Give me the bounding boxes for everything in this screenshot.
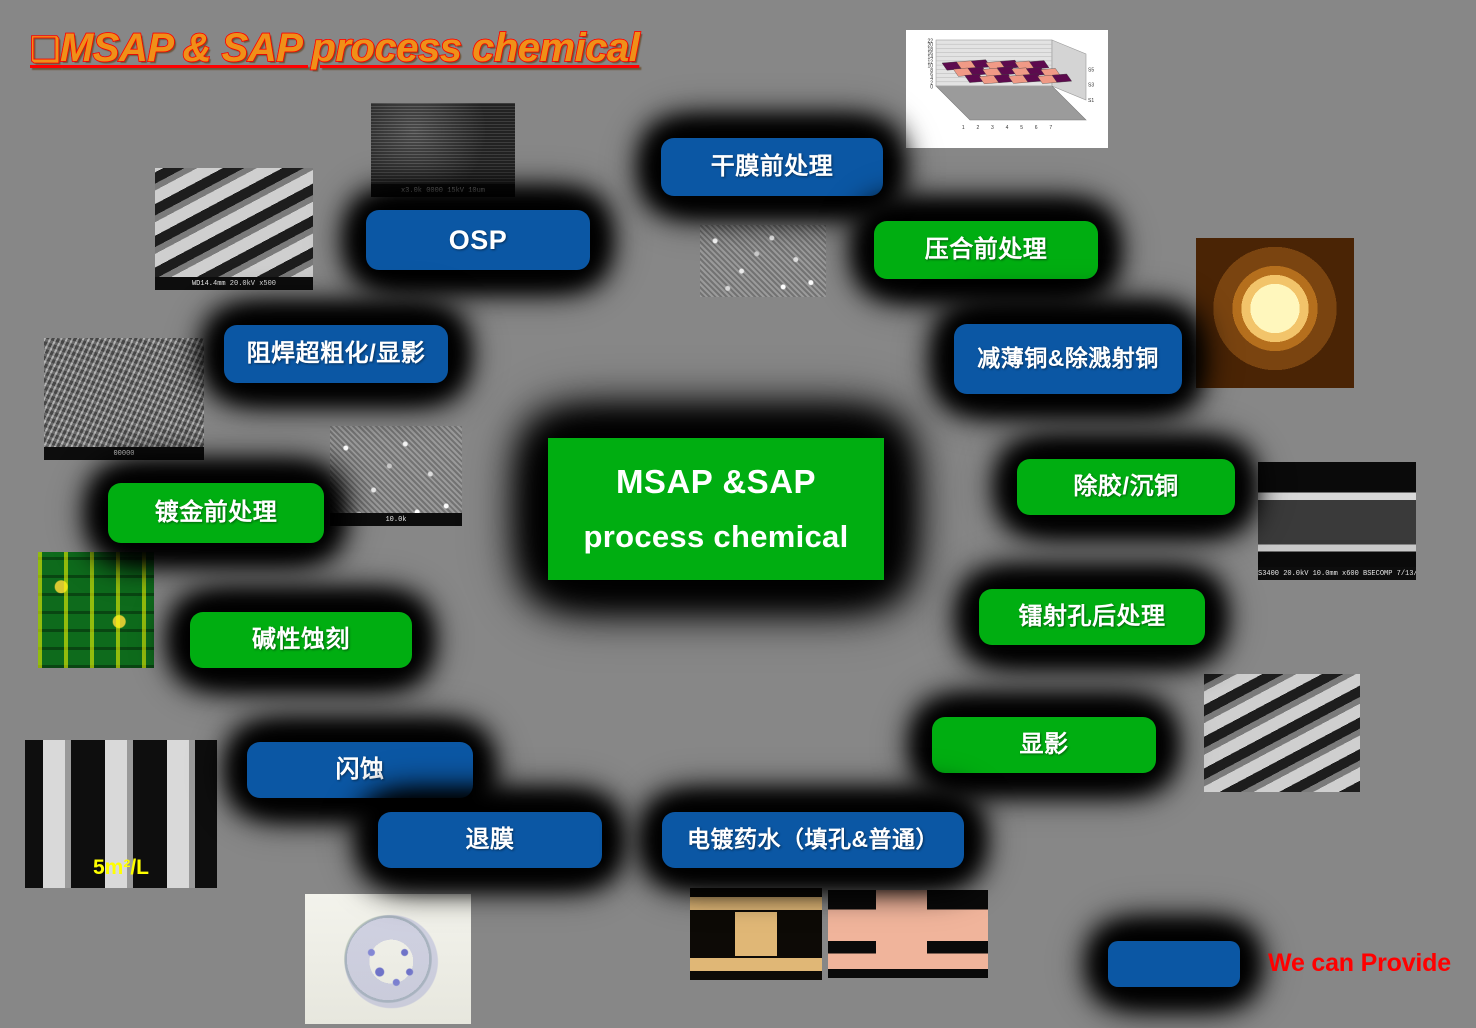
legend-color-swatch bbox=[1108, 941, 1240, 987]
slide-canvas: ❑MSAP & SAP process chemical x3.0k 0000 … bbox=[0, 0, 1476, 1028]
sem-copper-traces-caption: WD14.4mm 20.0kV x500 bbox=[155, 277, 313, 290]
copper-via-cross-section-a bbox=[690, 888, 822, 980]
svg-text:S3: S3 bbox=[1088, 83, 1094, 89]
svg-text:4: 4 bbox=[1006, 125, 1009, 131]
center-callout: MSAP &SAP process chemical bbox=[548, 438, 884, 580]
sem-copper-traces: WD14.4mm 20.0kV x500 bbox=[155, 168, 313, 290]
process-node-label: 减薄铜&除溅射铜 bbox=[954, 346, 1182, 372]
process-node-label: 镀金前处理 bbox=[108, 500, 324, 527]
microsection-via-top bbox=[1196, 238, 1354, 388]
surface-uniformity-chart: 02468101214161820221234567S1S3S5 bbox=[906, 30, 1108, 148]
center-callout-line2: process chemical bbox=[584, 519, 849, 555]
process-node-label: 镭射孔后处理 bbox=[979, 604, 1205, 631]
title-bullet-icon: ❑ bbox=[30, 31, 60, 69]
process-node-dry-film-pre[interactable]: 干膜前处理 bbox=[661, 138, 883, 196]
copper-via-cross-section-b bbox=[828, 890, 988, 978]
sem-roughened-surface: 00000 bbox=[44, 338, 204, 460]
sem-step-profile bbox=[1204, 674, 1360, 792]
process-node-solder-mask[interactable]: 阻焊超粗化/显影 bbox=[224, 325, 448, 383]
cross-section-via: S3400 20.0kV 10.0mm x600 BSECOMP 7/13/20… bbox=[1258, 462, 1416, 580]
process-node-label: OSP bbox=[366, 225, 590, 255]
sem-pillars-caption: 5m²/L bbox=[25, 856, 217, 880]
process-node-laser-via-post[interactable]: 镭射孔后处理 bbox=[979, 589, 1205, 645]
process-node-plating-chem[interactable]: 电镀药水（填孔&普通） bbox=[662, 812, 964, 868]
process-node-develop[interactable]: 显影 bbox=[932, 717, 1156, 773]
center-callout-line1: MSAP &SAP bbox=[616, 463, 816, 501]
sem-surface-texture: x3.0k 0000 15kV 10um bbox=[371, 103, 515, 197]
svg-text:7: 7 bbox=[1049, 125, 1052, 131]
title-text: MSAP & SAP process chemical bbox=[60, 26, 639, 70]
surface-chart-svg: 02468101214161820221234567S1S3S5 bbox=[906, 30, 1108, 148]
process-node-label: 碱性蚀刻 bbox=[190, 627, 412, 654]
sem-resist-pillars: 5m²/L bbox=[25, 740, 217, 888]
legend-label: We can Provide bbox=[1268, 949, 1451, 978]
process-node-label: 干膜前处理 bbox=[661, 154, 883, 181]
svg-text:5: 5 bbox=[1020, 125, 1023, 131]
process-node-alkaline-etch[interactable]: 碱性蚀刻 bbox=[190, 612, 412, 668]
process-node-thin-copper[interactable]: 减薄铜&除溅射铜 bbox=[954, 324, 1182, 394]
svg-text:6: 6 bbox=[1035, 125, 1038, 131]
pcb-board-photo bbox=[38, 552, 154, 668]
process-node-flash-etch[interactable]: 闪蚀 bbox=[247, 742, 473, 798]
svg-text:22: 22 bbox=[927, 39, 933, 45]
process-node-desmear-pth[interactable]: 除胶/沉铜 bbox=[1017, 459, 1235, 515]
process-node-gold-plating-pre[interactable]: 镀金前处理 bbox=[108, 483, 324, 543]
sem-nodule-deposit: 10.0k bbox=[330, 426, 462, 526]
svg-text:2: 2 bbox=[976, 125, 979, 131]
process-node-lamination-pre[interactable]: 压合前处理 bbox=[874, 221, 1098, 279]
sem-surface-texture-caption: x3.0k 0000 15kV 10um bbox=[371, 184, 515, 197]
process-node-strip-film[interactable]: 退膜 bbox=[378, 812, 602, 868]
sem-roughened-surface-caption: 00000 bbox=[44, 447, 204, 460]
svg-text:S1: S1 bbox=[1088, 98, 1094, 104]
process-node-label: 阻焊超粗化/显影 bbox=[224, 341, 448, 368]
page-title: ❑MSAP & SAP process chemical bbox=[30, 26, 639, 71]
cross-section-via-caption: S3400 20.0kV 10.0mm x600 BSECOMP 7/13/20… bbox=[1258, 567, 1416, 580]
svg-text:S5: S5 bbox=[1088, 67, 1094, 73]
petri-dish-sample bbox=[305, 894, 471, 1024]
process-node-osp[interactable]: OSP bbox=[366, 210, 590, 270]
process-node-label: 除胶/沉铜 bbox=[1017, 474, 1235, 501]
process-node-label: 压合前处理 bbox=[874, 237, 1098, 264]
sem-nodule-deposit-caption: 10.0k bbox=[330, 513, 462, 526]
process-node-label: 显影 bbox=[932, 732, 1156, 759]
sem-microetch-grain bbox=[700, 225, 826, 297]
svg-text:1: 1 bbox=[962, 125, 965, 131]
process-node-label: 电镀药水（填孔&普通） bbox=[662, 827, 964, 853]
process-node-label: 退膜 bbox=[378, 827, 602, 854]
process-node-label: 闪蚀 bbox=[247, 757, 473, 784]
svg-text:3: 3 bbox=[991, 125, 994, 131]
